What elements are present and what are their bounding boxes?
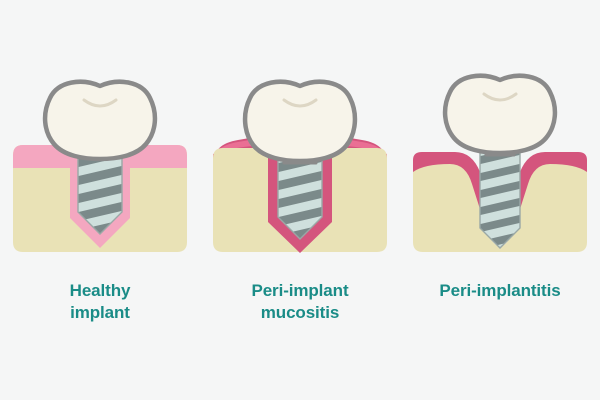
label-line-1: Peri-implantitis xyxy=(400,280,600,302)
label-line-2: implant xyxy=(0,302,200,324)
implant-stages-figure: Healthy implant xyxy=(0,0,600,400)
illustration-peri-implantitis xyxy=(400,60,600,260)
panel-healthy-implant: Healthy implant xyxy=(0,0,200,400)
crown xyxy=(245,82,355,161)
peri-implantitis-diagram xyxy=(400,60,600,260)
panel-peri-implantitis: Peri-implantitis xyxy=(400,0,600,400)
label-line-1: Peri-implant xyxy=(200,280,400,302)
crown xyxy=(45,82,155,159)
label-line-2: mucositis xyxy=(200,302,400,324)
label-healthy-implant: Healthy implant xyxy=(0,280,200,325)
mucositis-diagram xyxy=(200,60,400,260)
illustration-healthy-implant xyxy=(0,60,200,260)
crown xyxy=(445,76,555,153)
label-line-1: Healthy xyxy=(0,280,200,302)
label-peri-implantitis: Peri-implantitis xyxy=(400,280,600,302)
label-peri-implant-mucositis: Peri-implant mucositis xyxy=(200,280,400,325)
panel-peri-implant-mucositis: Peri-implant mucositis xyxy=(200,0,400,400)
healthy-implant-diagram xyxy=(0,60,200,260)
illustration-peri-implant-mucositis xyxy=(200,60,400,260)
